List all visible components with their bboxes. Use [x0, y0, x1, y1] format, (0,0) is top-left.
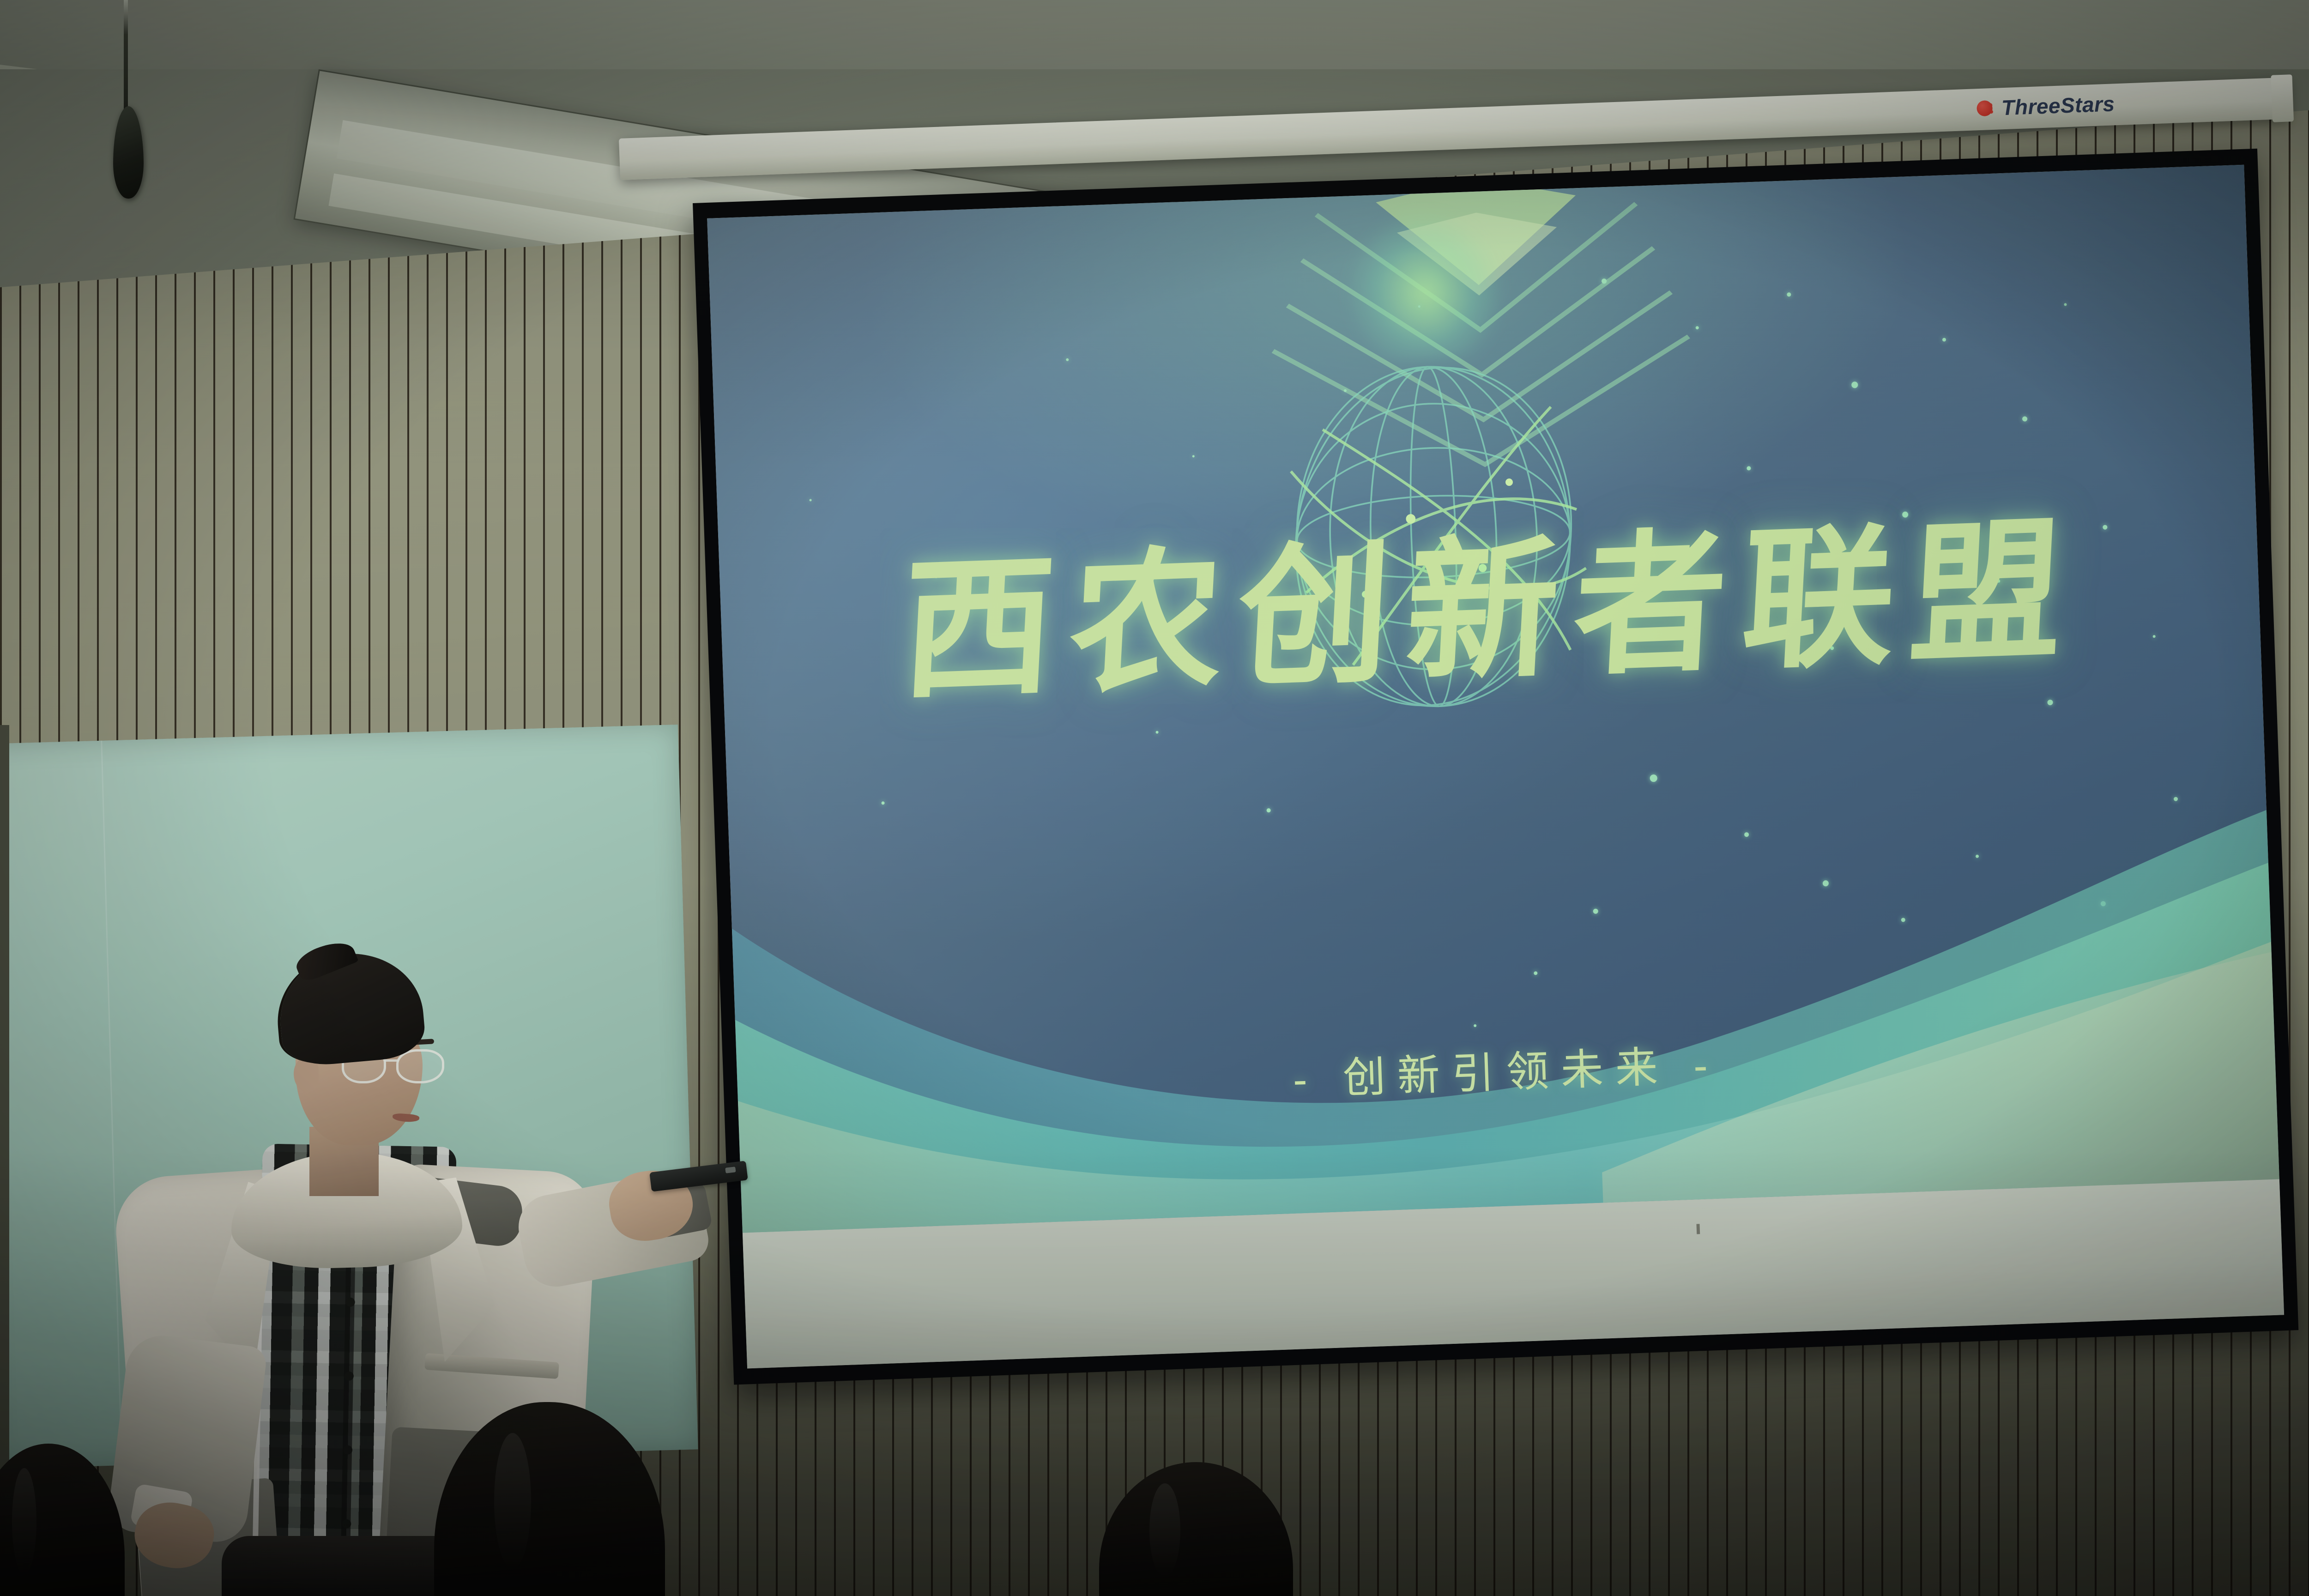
roller-end-cap [2271, 74, 2294, 122]
hair-sheen [12, 1468, 36, 1575]
screen-brand-logo: ThreeStars [1976, 91, 2115, 121]
wireframe-globe-icon [1239, 228, 1627, 809]
presentation-slide: 西农创新者联盟 - 创新引领未来 - [707, 165, 2279, 1233]
brand-name-label: ThreeStars [2001, 91, 2115, 120]
glasses-lens-right [396, 1049, 444, 1083]
slide-title: 西农创新者联盟 [718, 509, 2262, 716]
screen-speck [1696, 1224, 1700, 1234]
red-dot-mark-icon [1977, 100, 1993, 116]
hair-sheen [494, 1433, 531, 1569]
wave-graphic [726, 713, 2279, 1233]
board-frame-left [0, 725, 9, 1473]
lecture-hall-scene: N ThreeStars [0, 0, 2309, 1596]
projection-screen-frame: 西农创新者联盟 - 创新引领未来 - [693, 149, 2298, 1385]
globe-glow [1345, 209, 1505, 362]
hair-sheen [1149, 1483, 1180, 1577]
projection-screen-surface: 西农创新者联盟 - 创新引领未来 - [707, 165, 2284, 1369]
